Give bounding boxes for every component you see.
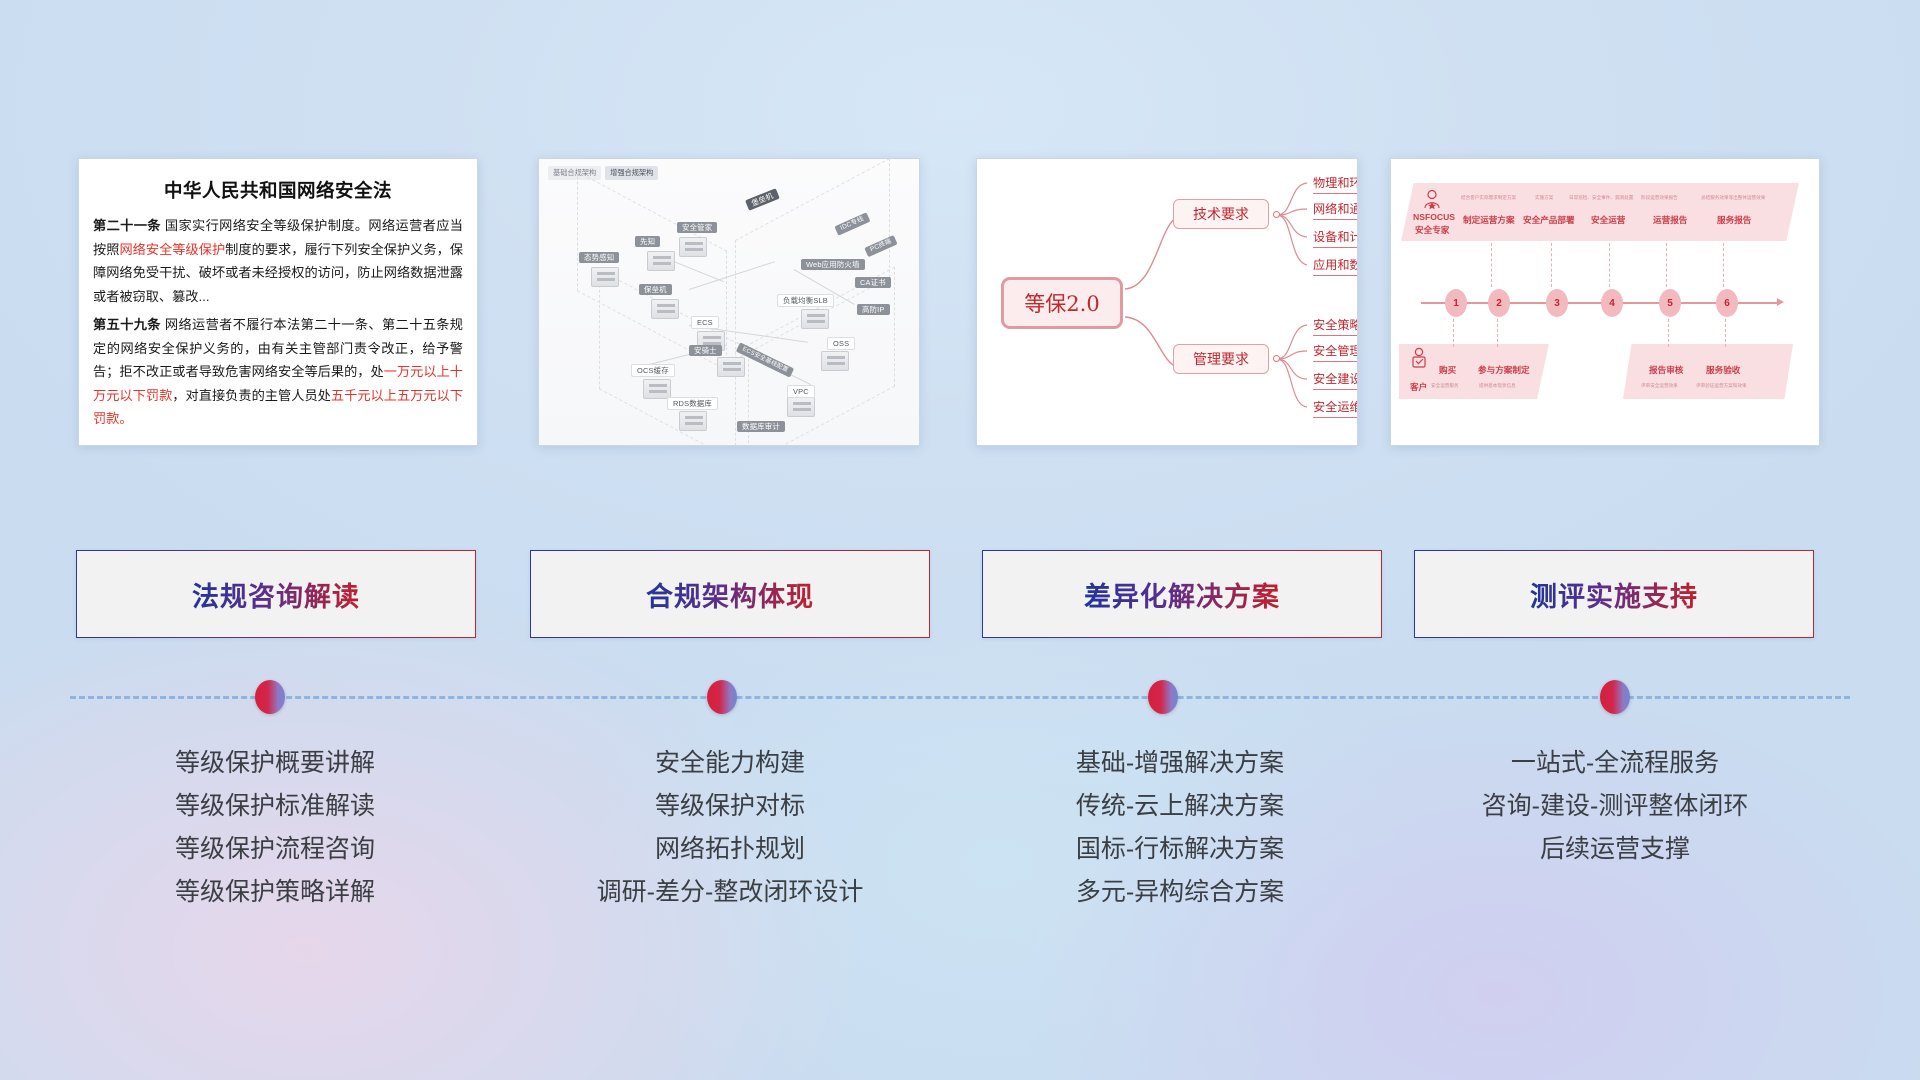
- detail-column-4: 一站式-全流程服务 咨询-建设-测评整体闭环 后续运营支撑: [1405, 742, 1825, 871]
- mindmap-root[interactable]: 等保2.0: [1001, 277, 1123, 329]
- customer-role: 客户: [1410, 381, 1427, 393]
- card-cybersecurity-law[interactable]: 中华人民共和国网络安全法 第二十一条 国家实行网络安全等级保护制度。网络运营者应…: [78, 158, 478, 446]
- timeline-connector: [1666, 243, 1667, 287]
- detail-item: 一站式-全流程服务: [1405, 742, 1825, 785]
- mindmap-leaf: 设备和计算安全: [1313, 227, 1358, 248]
- timeline-marker-2[interactable]: [707, 680, 737, 714]
- server-icon: [643, 379, 671, 399]
- provider-step-title: 安全产品部署: [1523, 214, 1575, 226]
- detail-item: 网络拓扑规划: [525, 828, 935, 871]
- provider-band: [1401, 183, 1799, 241]
- provider-step-title: 制定运营方案: [1463, 214, 1515, 226]
- headline-label: 合规架构体现: [646, 575, 814, 614]
- timeline-connector: [1453, 319, 1454, 347]
- headline-box-assessment-support[interactable]: 测评实施支持: [1414, 550, 1814, 638]
- label-ca-cert: CA证书: [855, 277, 891, 288]
- server-icon: [651, 299, 679, 319]
- provider-name: NSFOCUS: [1413, 212, 1455, 222]
- detail-item: 国标-行标解决方案: [975, 828, 1385, 871]
- server-icon: [647, 251, 675, 271]
- customer-step-title: 服务验收: [1706, 364, 1740, 376]
- label-oss: OSS: [827, 337, 855, 350]
- customer-step-title: 参与方案制定: [1478, 364, 1530, 376]
- label-db-audit: 数据库审计: [737, 421, 785, 432]
- label-ecs: ECS: [691, 316, 719, 329]
- timeline-step-node[interactable]: 1: [1445, 289, 1467, 317]
- detail-item: 咨询-建设-测评整体闭环: [1405, 785, 1825, 828]
- nsfocus-timeline: NSFOCUS 安全专家 结合客户实际需求制定方案 制定运营方案 实施方案 安全…: [1391, 159, 1819, 445]
- timeline-connector: [1491, 243, 1492, 287]
- mindmap-leaf: 安全运维管理: [1313, 397, 1358, 418]
- mindmap-leaf: 应用和数据安全: [1313, 255, 1358, 276]
- headline-label: 差异化解决方案: [1084, 575, 1280, 614]
- detail-item: 等级保护策略详解: [70, 871, 480, 914]
- law-highlight-text: 网络安全等级保护: [119, 242, 225, 257]
- timeline-step-node[interactable]: 3: [1546, 289, 1568, 317]
- card-mindmap-dengbao[interactable]: 等保2.0 技术要求 物理和环境安全 网络和通信安全 设备和计算安全 应用和数据…: [976, 158, 1358, 446]
- provider-step-sub: 总结服务效果等出整体运营效果: [1701, 195, 1765, 201]
- preview-cards-row: 中华人民共和国网络安全法 第二十一条 国家实行网络安全等级保护制度。网络运营者应…: [0, 158, 1920, 450]
- timeline-connector: [1497, 319, 1498, 347]
- detail-item: 后续运营支撑: [1405, 828, 1825, 871]
- customer-step-sub: 安全运营服务: [1431, 383, 1459, 389]
- card-nsfocus-timeline[interactable]: NSFOCUS 安全专家 结合客户实际需求制定方案 制定运营方案 实施方案 安全…: [1390, 158, 1820, 446]
- provider-step-sub: 实施方案: [1535, 195, 1553, 201]
- label-security-butler: 安全管家: [677, 222, 717, 233]
- label-slb: 负载均衡SLB: [777, 294, 834, 307]
- detail-item: 等级保护流程咨询: [70, 828, 480, 871]
- label-bastion-2: 保垒机: [639, 284, 672, 295]
- headline-box-regulation-consulting[interactable]: 法规咨询解读: [76, 550, 476, 638]
- label-anti-ddos-ip: 高防IP: [857, 304, 890, 315]
- server-icon: [679, 237, 707, 257]
- headline-box-compliance-architecture[interactable]: 合规架构体现: [530, 550, 930, 638]
- detail-item: 安全能力构建: [525, 742, 935, 785]
- label-rds-db: RDS数据库: [667, 397, 718, 410]
- headline-label: 测评实施支持: [1530, 575, 1698, 614]
- architecture-diagram: 基础合规架构 增强合规架构 安全管家 先知 态势感知 堡垒机: [539, 159, 919, 445]
- server-icon: [591, 267, 619, 287]
- customer-step-title: 报告审核: [1649, 364, 1683, 376]
- mindmap-branch-management[interactable]: 管理要求: [1173, 344, 1269, 374]
- customer-step-sub: 评审安全运营效果: [1641, 383, 1678, 389]
- label-bastion-host: 堡垒机: [745, 188, 780, 211]
- tab-enhanced-architecture[interactable]: 增强合规架构: [605, 166, 658, 180]
- label-waf: Web应用防火墙: [801, 259, 865, 270]
- label-ocs-cache: OCS缓存: [631, 364, 675, 377]
- timeline-connector: [1668, 319, 1669, 347]
- mindmap-leaf: 安全策略和管理制度: [1313, 315, 1358, 336]
- mindmap-leaf: 网络和通信安全: [1313, 199, 1358, 220]
- headline-boxes-row: 法规咨询解读 合规架构体现 差异化解决方案 测评实施支持: [0, 550, 1920, 645]
- server-icon: [821, 351, 849, 371]
- headline-label: 法规咨询解读: [192, 575, 360, 614]
- process-timeline-line: [70, 696, 1850, 699]
- mindmap-branch-technical[interactable]: 技术要求: [1173, 199, 1269, 229]
- server-icon: [679, 411, 707, 431]
- customer-step-sub: 评审验证运营方案和效果: [1696, 383, 1747, 389]
- label-situational-awareness: 态势感知: [579, 252, 619, 263]
- timeline-step-node[interactable]: 2: [1488, 289, 1510, 317]
- timeline-marker-1[interactable]: [255, 680, 285, 714]
- provider-step-sub: 阶段运营效果报告: [1641, 195, 1678, 201]
- provider-step-title: 运营报告: [1653, 214, 1687, 226]
- mindmap: 等保2.0 技术要求 物理和环境安全 网络和通信安全 设备和计算安全 应用和数据…: [977, 159, 1357, 445]
- server-icon: [801, 309, 829, 329]
- mindmap-node-dot[interactable]: [1273, 355, 1280, 362]
- headline-box-differentiated-solution[interactable]: 差异化解决方案: [982, 550, 1382, 638]
- customer-step-title: 购买: [1439, 364, 1456, 376]
- mindmap-node-dot[interactable]: [1273, 211, 1280, 218]
- timeline-arrow-icon: [1777, 298, 1784, 306]
- detail-item: 调研-差分-整改闭环设计: [525, 871, 935, 914]
- law-body-text: ，对直接负责的主管人员处: [172, 388, 331, 403]
- mindmap-leaf: 安全管理机构和人员: [1313, 341, 1358, 362]
- provider-step-title: 安全运营: [1591, 214, 1625, 226]
- timeline-marker-4[interactable]: [1600, 680, 1630, 714]
- timeline-step-node[interactable]: 6: [1716, 289, 1738, 317]
- provider-step-sub: 结合客户实际需求制定方案: [1461, 195, 1516, 201]
- server-icon: [717, 357, 745, 377]
- timeline-connector: [1723, 243, 1724, 287]
- provider-step-sub: 日常巡检、安全事件、漏洞处置: [1569, 195, 1633, 201]
- architecture-tabs[interactable]: 基础合规架构 增强合规架构: [548, 166, 658, 180]
- timeline-connector: [1725, 319, 1726, 347]
- mindmap-leaf: 物理和环境安全: [1313, 173, 1358, 194]
- law-paragraph-2: 第五十九条 网络运营者不履行本法第二十一条、第二十五条规定的网络安全保护义务的，…: [93, 313, 463, 431]
- detail-item: 多元-异构综合方案: [975, 871, 1385, 914]
- detail-column-3: 基础-增强解决方案 传统-云上解决方案 国标-行标解决方案 多元-异构综合方案: [975, 742, 1385, 914]
- timeline-step-node[interactable]: 4: [1601, 289, 1623, 317]
- detail-column-1: 等级保护概要讲解 等级保护标准解读 等级保护流程咨询 等级保护策略详解: [70, 742, 480, 914]
- detail-item: 等级保护对标: [525, 785, 935, 828]
- customer-step-sub: 提供基本现状信息: [1479, 383, 1516, 389]
- label-xianzhi: 先知: [635, 236, 660, 247]
- detail-item: 传统-云上解决方案: [975, 785, 1385, 828]
- law-article-number: 第二十一条: [93, 218, 161, 233]
- detail-item: 等级保护标准解读: [70, 785, 480, 828]
- card-compliance-architecture[interactable]: 基础合规架构 增强合规架构 安全管家 先知 态势感知 堡垒机: [538, 158, 920, 446]
- law-title: 中华人民共和国网络安全法: [93, 177, 463, 203]
- detail-item: 基础-增强解决方案: [975, 742, 1385, 785]
- law-paragraph-1: 第二十一条 国家实行网络安全等级保护制度。网络运营者应当按照网络安全等级保护制度…: [93, 214, 463, 308]
- timeline-connector: [1551, 243, 1552, 287]
- timeline-connector: [1609, 243, 1610, 287]
- customer-icon: [1409, 347, 1429, 369]
- detail-column-2: 安全能力构建 等级保护对标 网络拓扑规划 调研-差分-整改闭环设计: [525, 742, 935, 914]
- timeline-step-node[interactable]: 5: [1659, 289, 1681, 317]
- law-article-number: 第五十九条: [93, 317, 161, 332]
- provider-step-title: 服务报告: [1717, 214, 1751, 226]
- label-anqishi: 安骑士: [689, 345, 722, 356]
- timeline-marker-3[interactable]: [1148, 680, 1178, 714]
- provider-role: 安全专家: [1415, 224, 1449, 236]
- label-vpc: VPC: [787, 385, 815, 398]
- expert-icon: [1421, 189, 1443, 211]
- tab-basic-architecture[interactable]: 基础合规架构: [548, 166, 601, 180]
- server-icon: [787, 397, 815, 417]
- detail-item: 等级保护概要讲解: [70, 742, 480, 785]
- mindmap-leaf: 安全建设管理: [1313, 369, 1358, 390]
